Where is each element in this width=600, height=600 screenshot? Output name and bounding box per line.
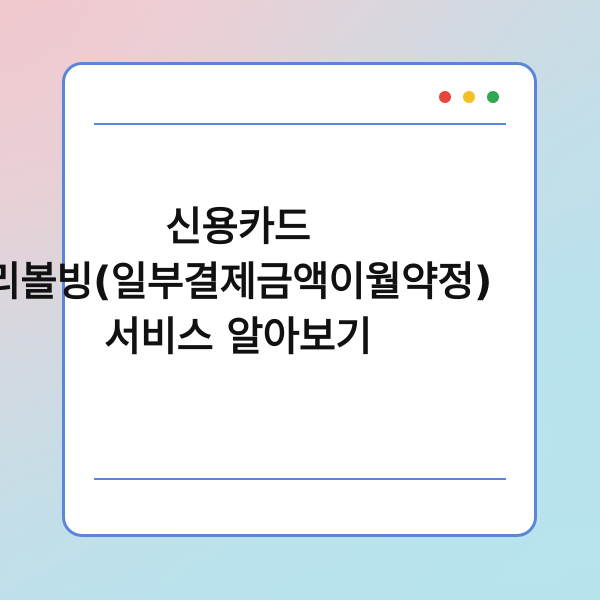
window-controls bbox=[439, 91, 499, 103]
top-divider bbox=[94, 123, 506, 125]
banner-canvas: 신용카드 리볼빙(일부결제금액이월약정) 서비스 알아보기 bbox=[0, 0, 600, 600]
close-dot[interactable] bbox=[439, 91, 451, 103]
bottom-divider bbox=[94, 478, 506, 480]
minimize-dot[interactable] bbox=[463, 91, 475, 103]
browser-window-card bbox=[62, 62, 537, 537]
maximize-dot[interactable] bbox=[487, 91, 499, 103]
